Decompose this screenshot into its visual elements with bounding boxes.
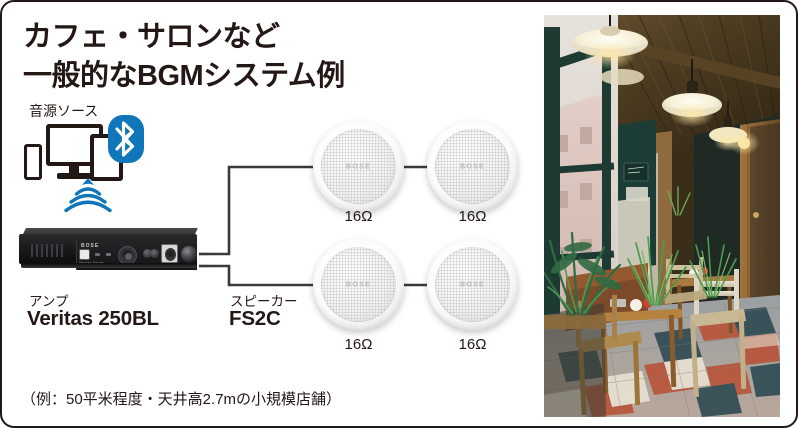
- amplifier-model-label: Veritas 250BL: [27, 307, 159, 331]
- smartphone-icon: [24, 144, 42, 180]
- amplifier-vent-slot: [31, 244, 33, 257]
- impedance-label-top-left: 16Ω: [313, 208, 404, 225]
- ceiling-speaker-top-left: BOSE: [313, 121, 404, 212]
- amplifier-vent-slot: [36, 244, 38, 257]
- amplifier-small-knob[interactable]: [150, 249, 159, 258]
- wireless-waves-icon: [63, 172, 113, 214]
- amplifier-base-shadow: [21, 263, 197, 268]
- impedance-label-bottom-right: 16Ω: [427, 336, 518, 353]
- photo-illustration: [544, 15, 780, 417]
- title-line-1: カフェ・サロンなど: [23, 21, 280, 53]
- amplifier-indicator-led: [95, 253, 100, 256]
- amplifier-device: BOSE Veritas Series: [19, 228, 199, 272]
- speaker-logo: BOSE: [346, 163, 371, 170]
- source-label: 音源ソース: [29, 101, 98, 121]
- speaker-grille: BOSE: [435, 247, 510, 322]
- ceiling-speaker-bottom-left: BOSE: [313, 239, 404, 330]
- speaker-grille: BOSE: [321, 129, 396, 204]
- amplifier-indicator-led: [106, 253, 111, 256]
- speaker-logo: BOSE: [346, 281, 371, 288]
- amplifier-front-face: BOSE Veritas Series: [19, 234, 197, 264]
- ceiling-speaker-bottom-right: BOSE: [427, 239, 518, 330]
- speaker-logo: BOSE: [460, 163, 485, 170]
- page-title: カフェ・サロンなど 一般的なBGMシステム例: [23, 18, 345, 96]
- caption-note: （例：50平米程度・天井高2.7mの小規模店舗）: [21, 388, 341, 409]
- impedance-label-bottom-left: 16Ω: [313, 336, 404, 353]
- impedance-label-top-right: 16Ω: [427, 208, 518, 225]
- bluetooth-glyph-icon: [108, 115, 144, 163]
- speaker-grille: BOSE: [321, 247, 396, 322]
- amplifier-xlr-connector[interactable]: [161, 244, 178, 263]
- bgm-system-diagram-card: カフェ・サロンなど 一般的なBGMシステム例 音源ソース: [0, 0, 798, 428]
- cafe-interior-photo: [544, 15, 780, 417]
- amplifier-vent-slot: [51, 244, 53, 257]
- speaker-grille: BOSE: [435, 129, 510, 204]
- speaker-model-label: FS2C: [229, 307, 281, 331]
- speaker-logo: BOSE: [460, 281, 485, 288]
- bluetooth-icon: [108, 115, 144, 163]
- ceiling-speaker-top-right: BOSE: [427, 121, 518, 212]
- amplifier-volume-knob[interactable]: [181, 246, 197, 262]
- amplifier-vent-slot: [46, 244, 48, 257]
- amplifier-vent-slot: [56, 244, 58, 257]
- amplifier-power-switch[interactable]: [79, 249, 90, 260]
- amplifier-vent-slot: [41, 244, 43, 257]
- title-line-2: 一般的なBGMシステム例: [23, 60, 345, 92]
- amplifier-vent-slot: [61, 244, 63, 257]
